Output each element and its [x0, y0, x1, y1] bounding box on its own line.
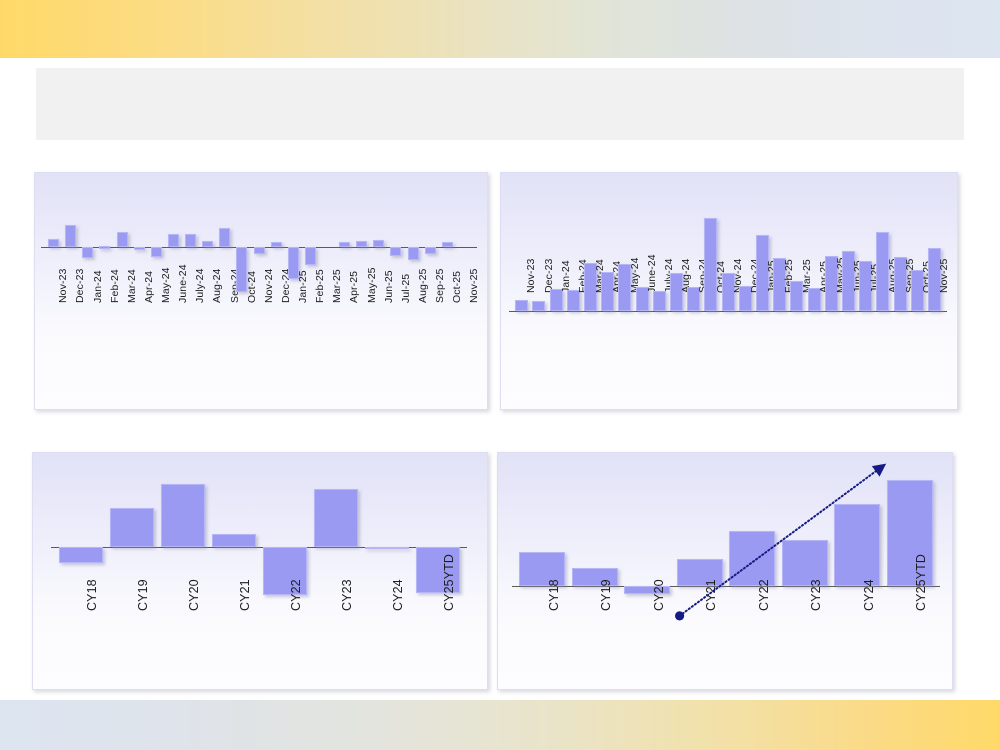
bar[interactable]: [219, 228, 230, 247]
plot-area-3: CY18CY19CY20CY21CY22CY23CY24CY25YTD: [33, 453, 487, 689]
x-axis-tick-label: CY22: [757, 579, 771, 611]
x-axis-tick-label: CY25YTD: [442, 554, 456, 611]
x-axis-tick-label: Nov-25: [938, 259, 950, 293]
x-axis-tick-label: Feb-25: [314, 269, 326, 303]
x-axis-tick-label: May-25: [366, 267, 378, 303]
bar[interactable]: [653, 291, 666, 311]
x-axis-tick-label: Aug-24: [211, 269, 223, 303]
x-axis-tick-label: CY23: [340, 579, 354, 611]
bar[interactable]: [59, 547, 103, 564]
bar[interactable]: [99, 246, 110, 249]
x-axis-tick-label: Nov-25: [468, 269, 480, 303]
x-axis-tick-label: Apr-25: [348, 271, 360, 303]
trend-arrow-start-dot: [675, 611, 684, 620]
x-axis-tick-label: Apr-24: [143, 271, 155, 303]
bar[interactable]: [185, 234, 196, 247]
bar[interactable]: [168, 234, 179, 247]
x-axis-tick-label: Sep-25: [434, 269, 446, 303]
bar[interactable]: [515, 300, 528, 311]
x-axis-tick-label: CY18: [85, 579, 99, 611]
bar[interactable]: [271, 242, 282, 247]
bar[interactable]: [305, 247, 316, 265]
x-axis-tick-label: CY25YTD: [914, 554, 928, 611]
x-axis-tick-label: June-24: [177, 264, 189, 303]
x-axis-tick-label: Aug-25: [417, 269, 429, 303]
bar[interactable]: [151, 247, 162, 257]
bar[interactable]: [161, 484, 205, 546]
x-axis-tick-label: CY21: [238, 579, 252, 611]
title-placeholder-strip: [36, 68, 964, 140]
bar[interactable]: [134, 247, 145, 250]
footer-gradient-band: [0, 700, 1000, 750]
zero-axis-line: [509, 311, 947, 312]
bar[interactable]: [729, 531, 775, 586]
x-axis-tick-label: Nov-23: [57, 269, 69, 303]
x-axis-tick-label: CY19: [136, 579, 150, 611]
x-axis-tick-label: CY20: [187, 579, 201, 611]
x-axis-tick-label: Jan-24: [92, 270, 104, 303]
x-axis-tick-label: Dec-23: [543, 259, 555, 293]
bar[interactable]: [314, 489, 358, 546]
bar[interactable]: [339, 242, 350, 247]
bar[interactable]: [212, 534, 256, 546]
x-axis-tick-label: July-24: [194, 268, 206, 303]
chart-panel-monthly-net-flow[interactable]: Nov-23Dec-23Jan-24Feb-24Mar-24Apr-24May-…: [34, 172, 488, 410]
x-axis-tick-label: CY20: [652, 579, 666, 611]
bar[interactable]: [65, 225, 76, 247]
x-axis-tick-label: Nov-24: [263, 269, 275, 303]
chart-panel-calendar-year-aum[interactable]: CY18CY19CY20CY21CY22CY23CY24CY25YTD: [497, 452, 953, 690]
x-axis-tick-label: CY19: [599, 579, 613, 611]
bar[interactable]: [110, 508, 154, 547]
x-axis-tick-label: June-24: [646, 254, 658, 293]
plot-area-1: Nov-23Dec-23Jan-24Feb-24Mar-24Apr-24May-…: [35, 173, 487, 409]
bar[interactable]: [834, 504, 880, 586]
bar[interactable]: [48, 239, 59, 247]
bar[interactable]: [532, 301, 545, 311]
x-axis-tick-label: Oct-25: [451, 271, 463, 303]
x-axis-tick-label: Jan-24: [560, 260, 572, 293]
bar[interactable]: [365, 547, 409, 549]
x-axis-tick-label: CY24: [862, 579, 876, 611]
x-axis-tick-label: Jul-25: [400, 274, 412, 303]
x-axis-tick-label: CY24: [391, 579, 405, 611]
chart-panel-monthly-aum[interactable]: Nov-23Dec-23Jan-24Feb-24Mar-24Apr-24May-…: [500, 172, 958, 410]
x-axis-tick-label: Nov-23: [525, 259, 537, 293]
bar[interactable]: [567, 290, 580, 311]
x-axis-tick-label: Mar-24: [126, 269, 138, 303]
x-axis-tick-label: CY22: [289, 579, 303, 611]
bar[interactable]: [82, 247, 93, 258]
bar[interactable]: [254, 247, 265, 254]
header-gradient-band: [0, 0, 1000, 58]
x-axis-tick-label: Feb-24: [109, 269, 121, 303]
x-axis-tick-label: CY21: [704, 579, 718, 611]
bar[interactable]: [117, 232, 128, 247]
x-axis-tick-label: May-24: [160, 267, 172, 303]
x-axis-tick-label: Mar-25: [331, 269, 343, 303]
x-axis-tick-label: Dec-23: [74, 269, 86, 303]
plot-area-4: CY18CY19CY20CY21CY22CY23CY24CY25YTD: [498, 453, 952, 689]
bar[interactable]: [390, 247, 401, 256]
bar[interactable]: [442, 242, 453, 247]
bar[interactable]: [202, 241, 213, 247]
x-axis-tick-label: CY23: [809, 579, 823, 611]
plot-area-2: Nov-23Dec-23Jan-24Feb-24Mar-24Apr-24May-…: [501, 173, 957, 409]
bar[interactable]: [408, 247, 419, 260]
x-axis-tick-label: Jan-25: [297, 270, 309, 303]
x-axis-tick-label: Oct-24: [246, 271, 258, 303]
bar[interactable]: [373, 240, 384, 248]
x-axis-tick-label: CY18: [547, 579, 561, 611]
bar[interactable]: [356, 241, 367, 247]
trend-arrow-head-icon: [872, 464, 886, 477]
x-axis-tick-label: Jun-25: [383, 270, 395, 303]
bar[interactable]: [425, 247, 436, 253]
annotation-overlay: [498, 453, 952, 689]
chart-panel-calendar-year-net-flow[interactable]: CY18CY19CY20CY21CY22CY23CY24CY25YTD: [32, 452, 488, 690]
